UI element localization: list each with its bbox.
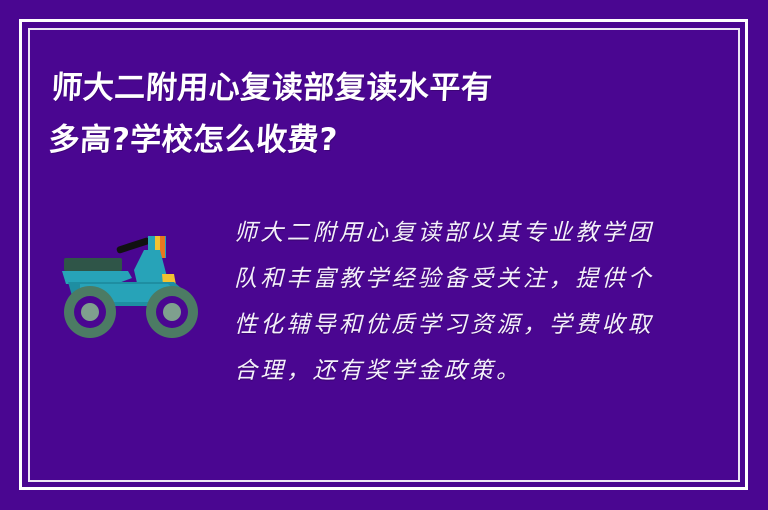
scooter-rear-hub <box>81 303 99 321</box>
scooter-rear-rack <box>64 258 122 271</box>
poster-body-text: 师大二附用心复读部以其专业教学团队和丰富教学经验备受关注，提供个性化辅导和优质学… <box>234 210 654 394</box>
poster-canvas: 师大二附用心复读部复读水平有 多高?学校怎么收费? <box>0 0 768 510</box>
scooter-front-hub <box>163 303 181 321</box>
scooter-illustration <box>56 218 212 346</box>
poster-headline: 师大二附用心复读部复读水平有 多高?学校怎么收费? <box>47 62 652 166</box>
